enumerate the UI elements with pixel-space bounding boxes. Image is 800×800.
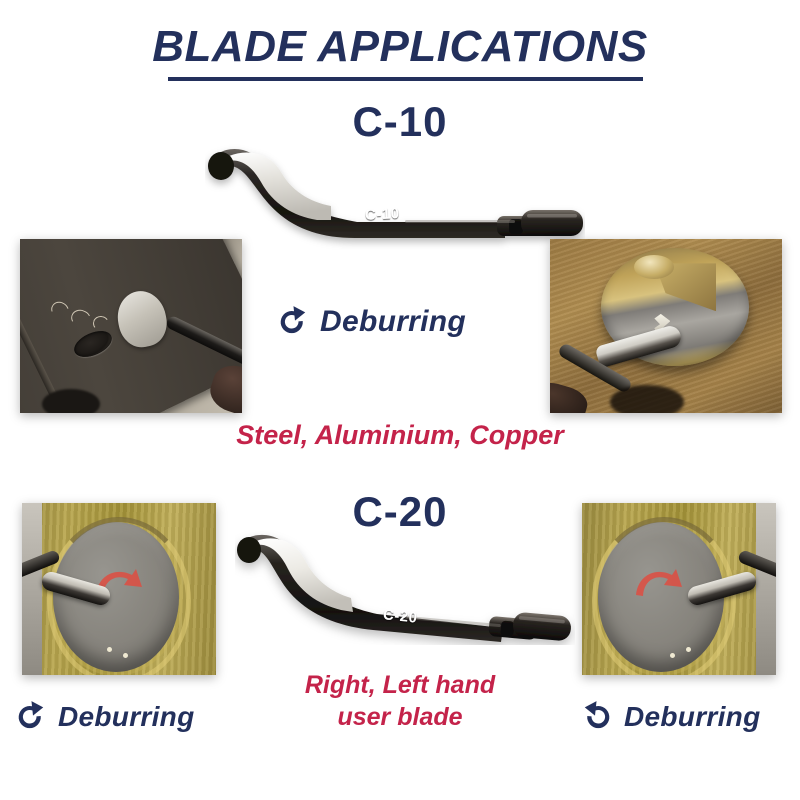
heading-c10: C-10: [0, 98, 800, 146]
photo-c10-steel-plate: [20, 239, 242, 413]
blade-shank-end-c10: [521, 210, 583, 236]
handed-caption-c20: Right, Left hand user blade: [250, 669, 550, 733]
blade-svg-c10: [205, 140, 585, 250]
deburring-label-c20-left-hand: Deburring: [624, 701, 760, 733]
plate-edge-strip: [22, 503, 42, 675]
photo-c20-bore-right-hand-content: [22, 503, 216, 675]
burr-particle: [123, 653, 128, 658]
blade-nose-c10: [208, 152, 234, 180]
page-title: BLADE APPLICATIONS: [0, 22, 800, 72]
plate-edge-strip: [756, 503, 776, 675]
photo-c10-brass-disc: [550, 239, 782, 413]
page-title-underline: [168, 77, 643, 81]
blade-nose-c20: [237, 537, 261, 563]
photo-c20-bore-right-hand: [22, 503, 216, 675]
material-caption-c10: Steel, Aluminium, Copper: [0, 420, 800, 451]
handed-caption-line1: Right, Left hand: [250, 669, 550, 701]
poster-page: BLADE APPLICATIONS C-10: [0, 0, 800, 800]
burr-particle: [670, 653, 675, 658]
deburring-indicator-c10: Deburring: [276, 305, 466, 339]
blade-label-c10: C-10: [365, 205, 400, 224]
deburring-indicator-c20-left-hand: Deburring: [580, 700, 760, 734]
photo-c10-steel-plate-content: [20, 239, 242, 413]
photo-foreground-shadow: [610, 385, 684, 413]
rotate-clockwise-icon: [276, 305, 310, 339]
blade-label-c20: C-20: [382, 606, 418, 627]
blade-illustration-c20: C-20: [235, 530, 575, 645]
rotate-counter-clockwise-icon: [580, 700, 614, 734]
photo-c10-brass-disc-content: [550, 239, 782, 413]
blade-illustration-c10: C-10: [205, 140, 585, 250]
brass-disc-boss: [634, 255, 674, 279]
photo-c20-bore-left-hand: [582, 503, 776, 675]
photo-c20-bore-left-hand-content: [582, 503, 776, 675]
blade-svg-c20: [235, 530, 575, 645]
rotate-clockwise-icon: [14, 700, 48, 734]
deburring-label-c10: Deburring: [320, 305, 466, 339]
red-direction-arrow-overlay: [632, 565, 684, 599]
deburring-indicator-c20-right-hand: Deburring: [14, 700, 194, 734]
handed-caption-line2: user blade: [250, 701, 550, 733]
deburring-label-c20-right-hand: Deburring: [58, 701, 194, 733]
